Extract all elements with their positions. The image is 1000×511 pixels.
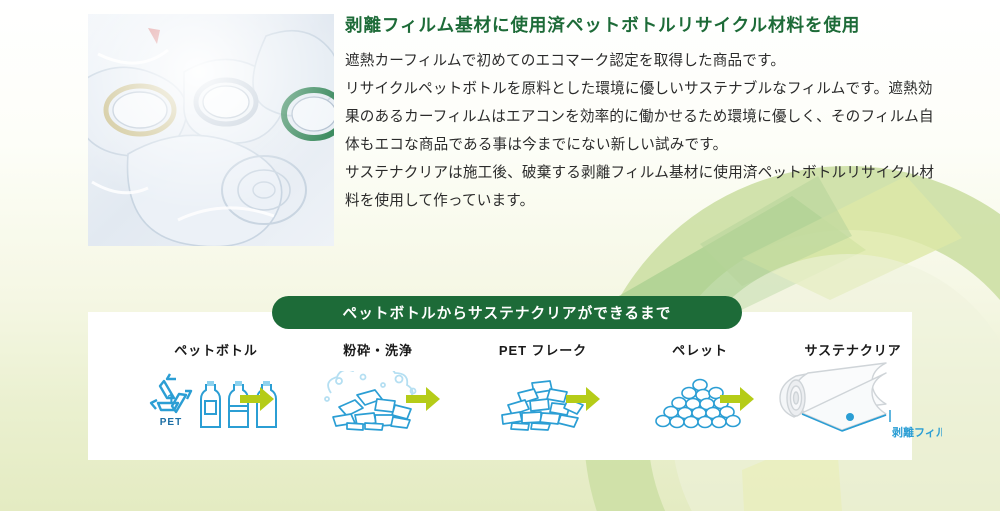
process-banner: ペットボトルからサステナクリアができるまで (272, 296, 742, 329)
page-root: 剥離フィルム基材に使用済ペットボトルリサイクル材料を使用 遮熱カーフィルムで初め… (0, 0, 1000, 511)
process-banner-label: ペットボトルからサステナクリアができるまで (343, 302, 672, 323)
process-arrow-1 (240, 384, 274, 414)
svg-text:PET: PET (160, 417, 182, 428)
section-body: 遮熱カーフィルムで初めてのエコマーク認定を取得した商品です。 リサイクルペットボ… (345, 47, 945, 215)
process-arrow-4 (720, 384, 754, 414)
paragraph-1: 遮熱カーフィルムで初めてのエコマーク認定を取得した商品です。 (345, 47, 945, 75)
process-arrow-2 (406, 384, 440, 414)
pet-bottles-photo (88, 14, 334, 246)
svg-text:1: 1 (167, 391, 175, 408)
process-step-5: サステナクリア (753, 340, 953, 439)
text-column: 剥離フィルム基材に使用済ペットボトルリサイクル材料を使用 遮熱カーフィルムで初め… (345, 12, 945, 215)
paragraph-2: リサイクルペットボトルを原料とした環境に優しいサステナブルなフィルムです。遮熱効… (345, 75, 945, 159)
process-arrow-3 (566, 384, 600, 414)
film-callout-label: 剥離フィルム (892, 425, 942, 439)
paragraph-3: サステナクリアは施工後、破棄する剥離フィルム基材に使用済ペットボトルリサイクル材… (345, 159, 945, 215)
process-step-label: サステナクリア (753, 340, 953, 359)
process-steps: ペットボトル 1 PET (88, 340, 912, 455)
film-roll-icon: 剥離フィルム (753, 365, 953, 439)
section-heading: 剥離フィルム基材に使用済ペットボトルリサイクル材料を使用 (345, 12, 945, 38)
